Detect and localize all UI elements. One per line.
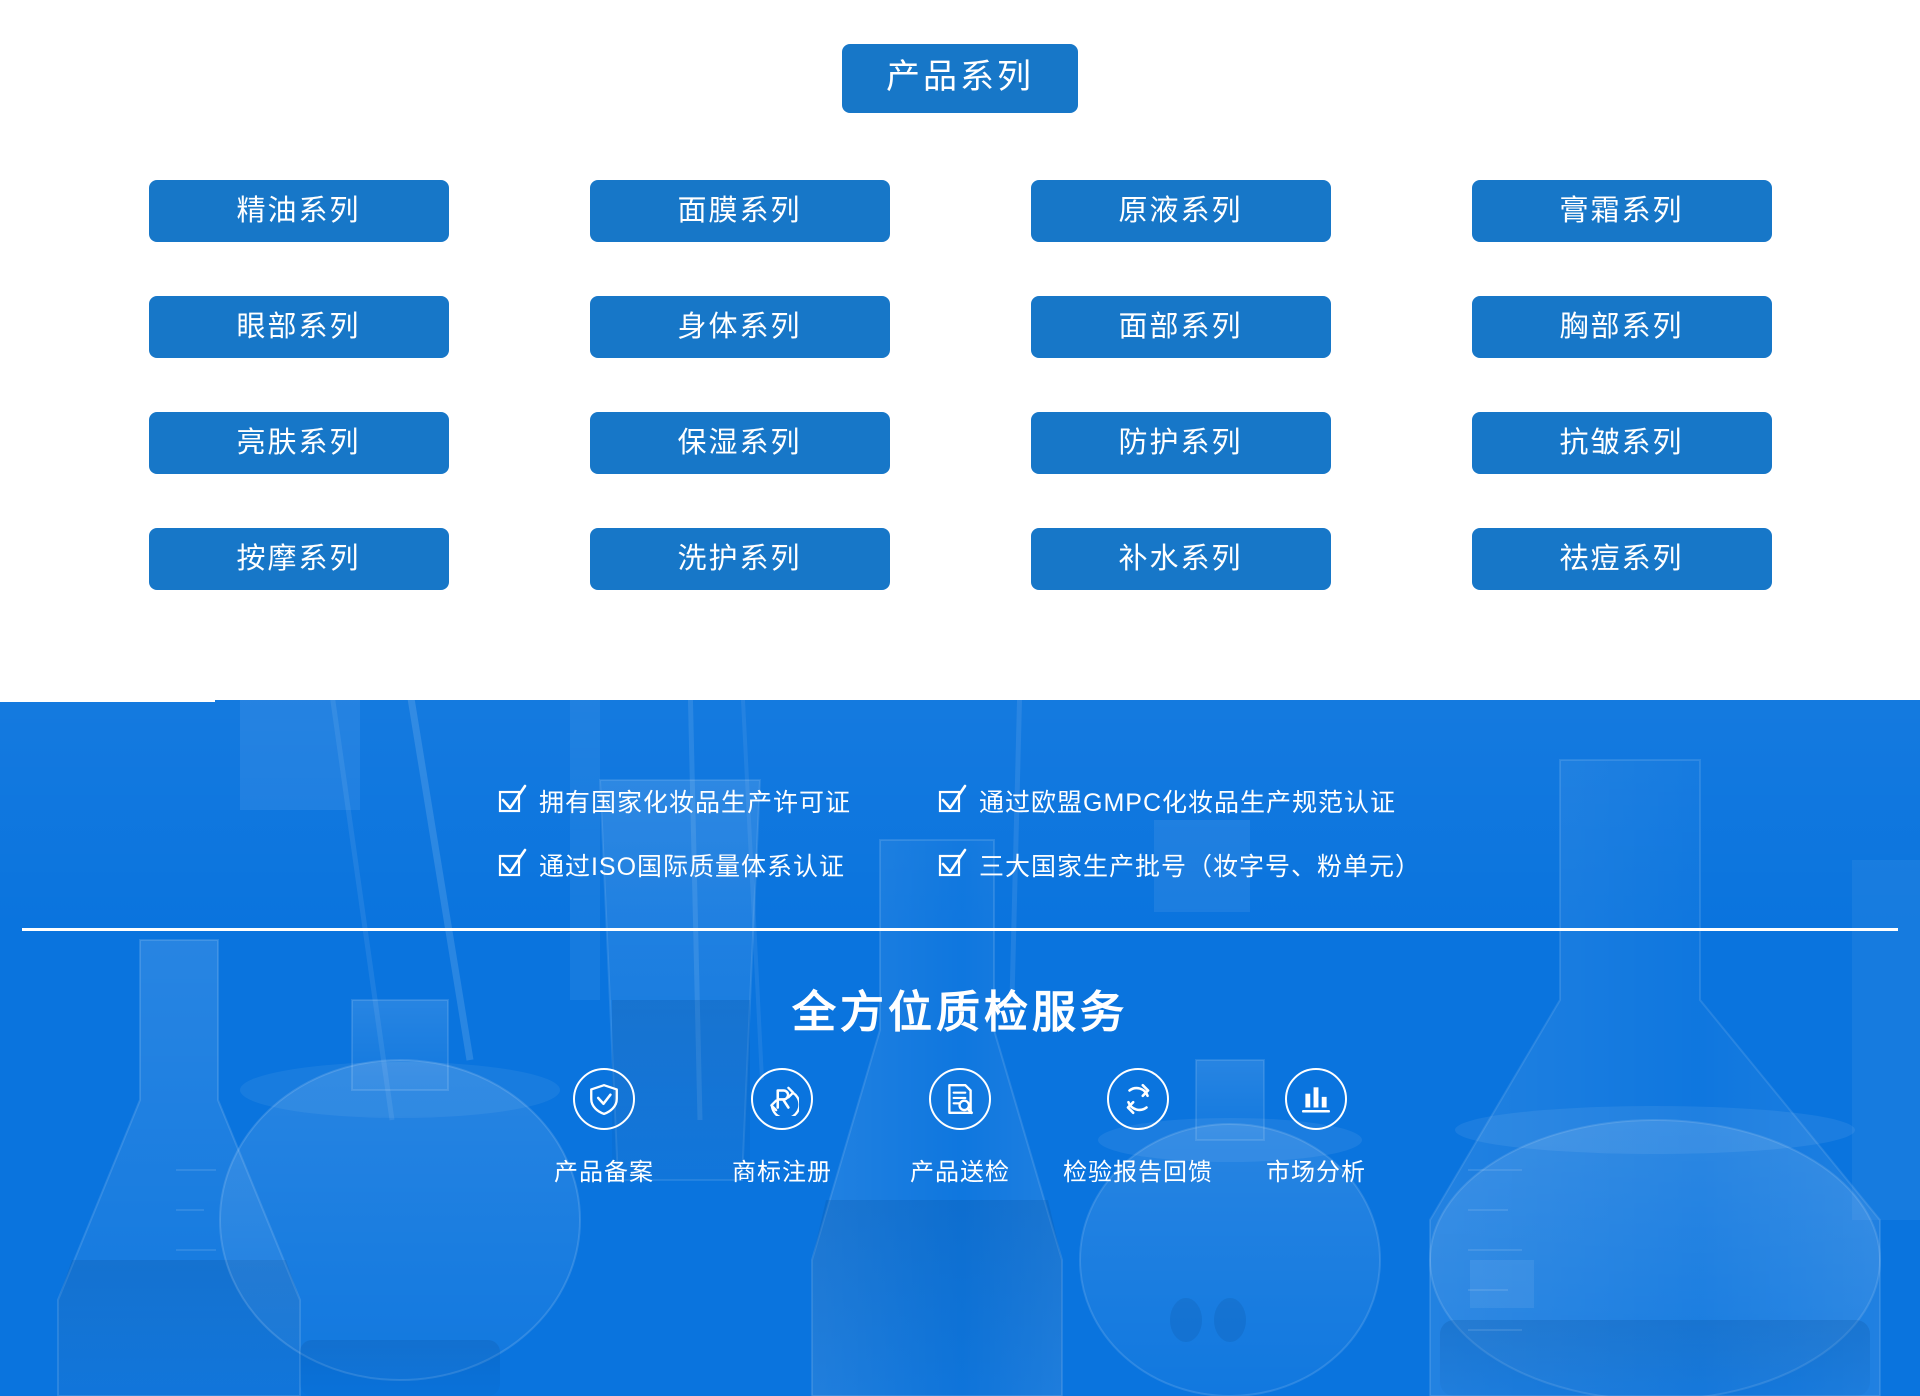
document-search-icon[interactable]	[929, 1068, 991, 1130]
service-label: 市场分析	[1266, 1152, 1366, 1187]
checkbox-check-icon	[939, 789, 963, 813]
page-title: 产品系列	[842, 44, 1078, 113]
quality-service-section: 拥有国家化妆品生产许可证通过欧盟GMPC化妆品生产规范认证通过ISO国际质量体系…	[0, 700, 1920, 1396]
service-label: 商标注册	[732, 1152, 832, 1187]
product-series-button[interactable]: 面膜系列	[590, 180, 890, 242]
certification-label: 拥有国家化妆品生产许可证	[539, 783, 851, 819]
service-label: 产品备案	[554, 1152, 654, 1187]
certification-label: 通过ISO国际质量体系认证	[539, 847, 845, 883]
section-title-container: 产品系列	[0, 44, 1920, 113]
service-item[interactable]: 产品送检	[890, 1068, 1030, 1187]
product-series-grid: 精油系列面膜系列原液系列膏霜系列眼部系列身体系列面部系列胸部系列亮肤系列保湿系列…	[0, 180, 1920, 590]
section-top-notch	[0, 700, 215, 702]
product-series-button[interactable]: 原液系列	[1031, 180, 1331, 242]
trademark-r-icon[interactable]	[751, 1068, 813, 1130]
service-item[interactable]: 产品备案	[534, 1068, 674, 1187]
service-label: 产品送检	[910, 1152, 1010, 1187]
bar-chart-icon[interactable]	[1285, 1068, 1347, 1130]
shield-check-icon[interactable]	[573, 1068, 635, 1130]
checkbox-check-icon	[939, 853, 963, 877]
page-root: 产品系列 精油系列面膜系列原液系列膏霜系列眼部系列身体系列面部系列胸部系列亮肤系…	[0, 0, 1920, 1396]
service-item[interactable]: 商标注册	[712, 1068, 852, 1187]
product-series-button[interactable]: 祛痘系列	[1472, 528, 1772, 590]
product-series-button[interactable]: 防护系列	[1031, 412, 1331, 474]
service-item[interactable]: 市场分析	[1246, 1068, 1386, 1187]
certification-item: 拥有国家化妆品生产许可证	[499, 783, 851, 819]
section-divider	[22, 928, 1898, 931]
product-series-button[interactable]: 胸部系列	[1472, 296, 1772, 358]
product-series-button[interactable]: 眼部系列	[149, 296, 449, 358]
certification-label: 三大国家生产批号（妆字号、粉单元）	[979, 847, 1421, 883]
product-series-button[interactable]: 精油系列	[149, 180, 449, 242]
product-series-button[interactable]: 身体系列	[590, 296, 890, 358]
service-items-row: 产品备案商标注册产品送检检验报告回馈市场分析	[0, 1068, 1920, 1187]
product-series-button[interactable]: 补水系列	[1031, 528, 1331, 590]
product-series-button[interactable]: 洗护系列	[590, 528, 890, 590]
service-label: 检验报告回馈	[1063, 1152, 1213, 1187]
product-series-section: 产品系列 精油系列面膜系列原液系列膏霜系列眼部系列身体系列面部系列胸部系列亮肤系…	[0, 0, 1920, 700]
refresh-cycle-icon[interactable]	[1107, 1068, 1169, 1130]
certification-label: 通过欧盟GMPC化妆品生产规范认证	[979, 783, 1396, 819]
product-series-button[interactable]: 抗皱系列	[1472, 412, 1772, 474]
checkbox-check-icon	[499, 789, 523, 813]
certifications-grid: 拥有国家化妆品生产许可证通过欧盟GMPC化妆品生产规范认证通过ISO国际质量体系…	[499, 783, 1421, 883]
product-series-button[interactable]: 亮肤系列	[149, 412, 449, 474]
certification-item: 通过ISO国际质量体系认证	[499, 847, 851, 883]
product-series-button[interactable]: 按摩系列	[149, 528, 449, 590]
certifications-container: 拥有国家化妆品生产许可证通过欧盟GMPC化妆品生产规范认证通过ISO国际质量体系…	[0, 783, 1920, 883]
service-heading: 全方位质检服务	[0, 976, 1920, 1040]
checkbox-check-icon	[499, 853, 523, 877]
certification-item: 通过欧盟GMPC化妆品生产规范认证	[939, 783, 1421, 819]
product-series-button[interactable]: 膏霜系列	[1472, 180, 1772, 242]
certification-item: 三大国家生产批号（妆字号、粉单元）	[939, 847, 1421, 883]
service-item[interactable]: 检验报告回馈	[1068, 1068, 1208, 1187]
product-series-button[interactable]: 面部系列	[1031, 296, 1331, 358]
product-series-button[interactable]: 保湿系列	[590, 412, 890, 474]
